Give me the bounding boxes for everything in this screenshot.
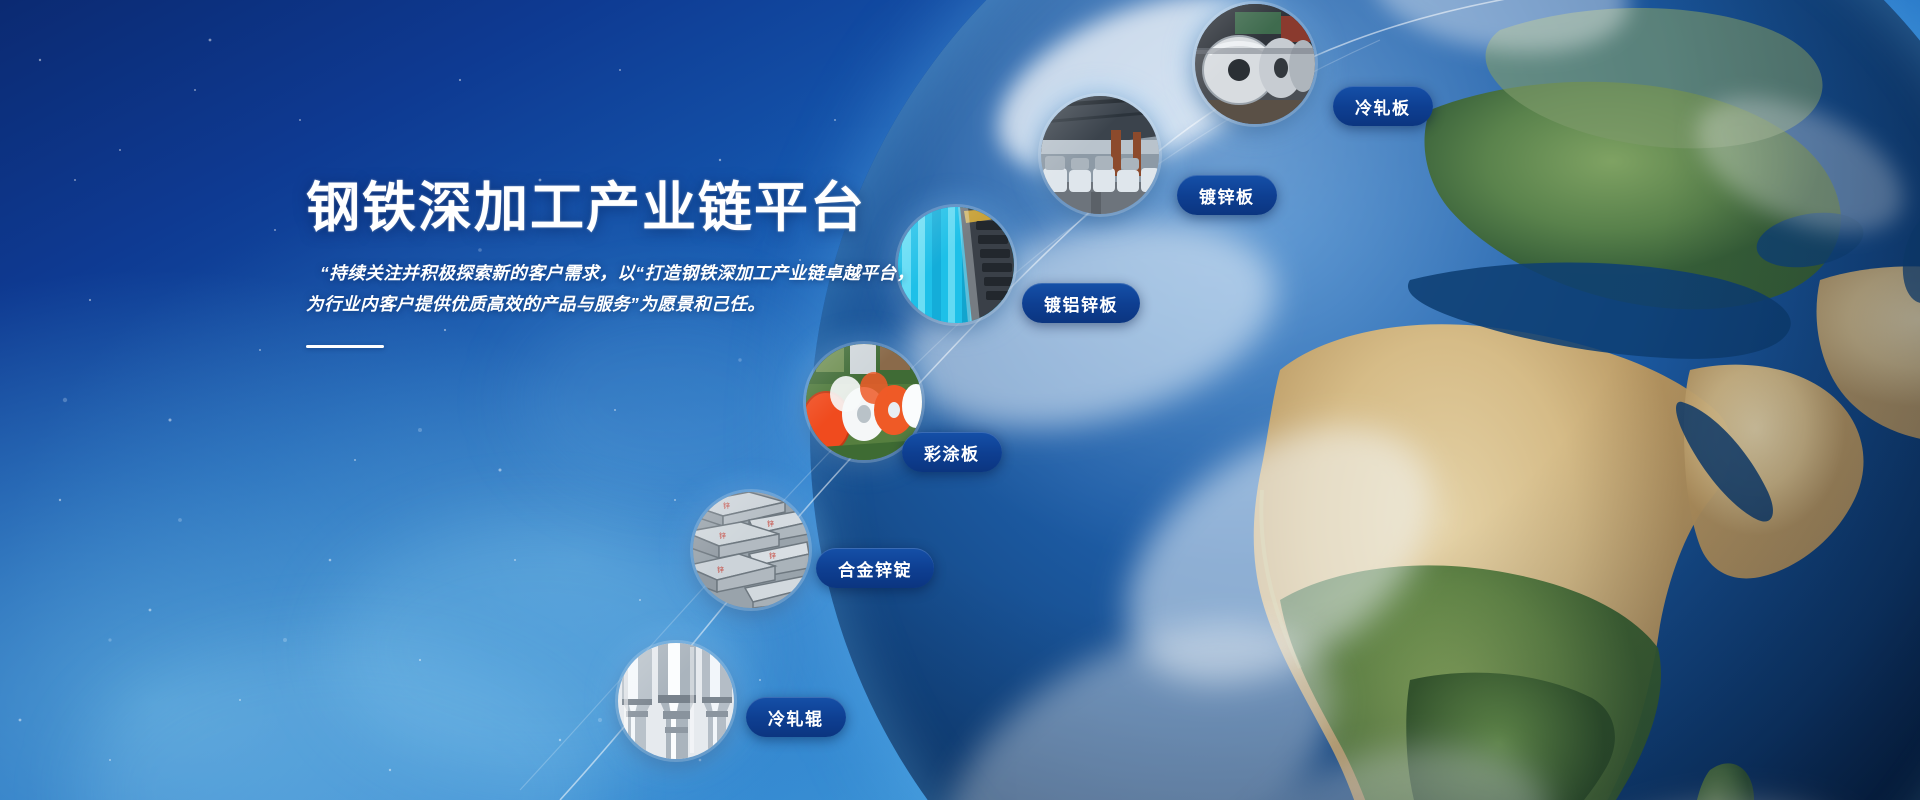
hero-subtitle-line-2: 为行业内客户提供优质高效的产品与服务”为愿景和己任。: [306, 289, 946, 319]
page-title: 钢铁深加工产业链平台: [306, 178, 946, 238]
svg-text:锌: 锌: [719, 531, 726, 540]
chain-label-text: 镀铝锌板: [1044, 291, 1118, 316]
svg-text:锌: 锌: [723, 501, 730, 510]
divider-rule: [306, 345, 384, 348]
chain-label-galvalume-plate[interactable]: 镀铝锌板: [1022, 283, 1140, 323]
chain-label-text: 镀锌板: [1199, 183, 1255, 208]
cloud-8: [1238, 725, 1561, 800]
chain-label-text: 彩涂板: [924, 440, 980, 465]
chain-label-color-coated-plate[interactable]: 彩涂板: [902, 432, 1002, 472]
steel-coils-photo[interactable]: [1195, 4, 1315, 124]
svg-text:锌: 锌: [717, 565, 724, 574]
cloud-4: [1363, 0, 1637, 68]
hero-subtitle-line-1: “持续关注并积极探索新的客户需求，以“打造钢铁深加工产业链卓越平台，: [320, 258, 946, 288]
cloud-5: [1429, 760, 1890, 800]
zinc-ingots-photo[interactable]: 锌锌 锌锌 锌: [693, 492, 809, 608]
chain-label-text: 冷轧板: [1355, 94, 1411, 119]
chain-label-galvanized-plate[interactable]: 镀锌板: [1177, 175, 1277, 215]
hero-banner: 冷轧板: [0, 0, 1920, 800]
svg-text:锌: 锌: [769, 551, 776, 560]
chain-label-cold-rolled-plate[interactable]: 冷轧板: [1333, 86, 1433, 126]
coil-warehouse-photo[interactable]: [1041, 96, 1159, 214]
chain-label-text: 冷轧辊: [768, 705, 824, 730]
svg-text:锌: 锌: [767, 519, 774, 528]
chain-label-text: 合金锌锭: [838, 556, 912, 581]
hero-subtitle: “持续关注并积极探索新的客户需求，以“打造钢铁深加工产业链卓越平台， 为行业内客…: [306, 258, 946, 318]
chain-label-zinc-alloy-ingot[interactable]: 合金锌锭: [816, 548, 934, 588]
nebula-glow-2: [80, 640, 600, 800]
chrome-rolls-photo[interactable]: [618, 643, 734, 759]
star-speckles: [0, 0, 1920, 800]
chain-label-cold-rolling-roll[interactable]: 冷轧辊: [746, 697, 846, 737]
chain-connector-line: [0, 0, 1920, 800]
cloud-3: [1080, 373, 1479, 737]
cloud-6: [901, 565, 1380, 800]
cloud-7: [1677, 70, 1920, 260]
hero-copy: 钢铁深加工产业链平台 “持续关注并积极探索新的客户需求，以“打造钢铁深加工产业链…: [306, 178, 946, 348]
